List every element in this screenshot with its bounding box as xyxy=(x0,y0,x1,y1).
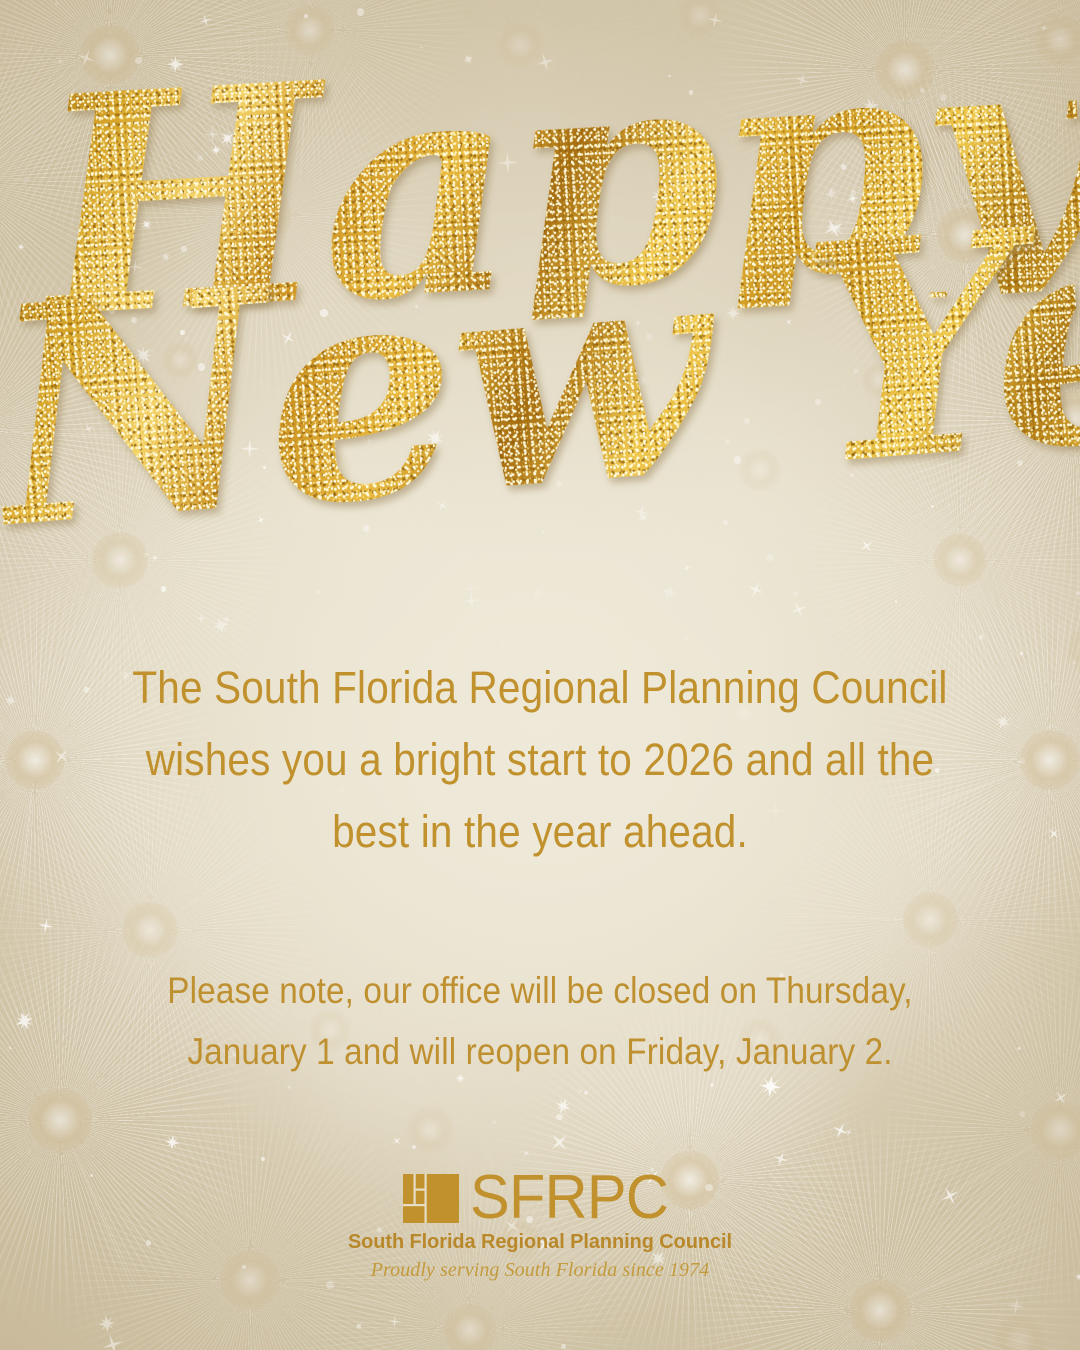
sfrpc-logo: SFRPC South Florida Regional Planning Co… xyxy=(0,1172,1080,1282)
new-year-greeting-poster: Happy New Year! The South Florida Region… xyxy=(0,0,1080,1350)
sfrpc-grid-square-icon xyxy=(403,1174,459,1223)
logo-organization-name: South Florida Regional Planning Council xyxy=(348,1230,732,1254)
logo-wordmark: SFRPC xyxy=(470,1172,668,1224)
background-base xyxy=(0,0,1080,1350)
logo-primary-row: SFRPC xyxy=(403,1172,676,1224)
logo-tagline: Proudly serving South Florida since 1974 xyxy=(371,1259,710,1282)
